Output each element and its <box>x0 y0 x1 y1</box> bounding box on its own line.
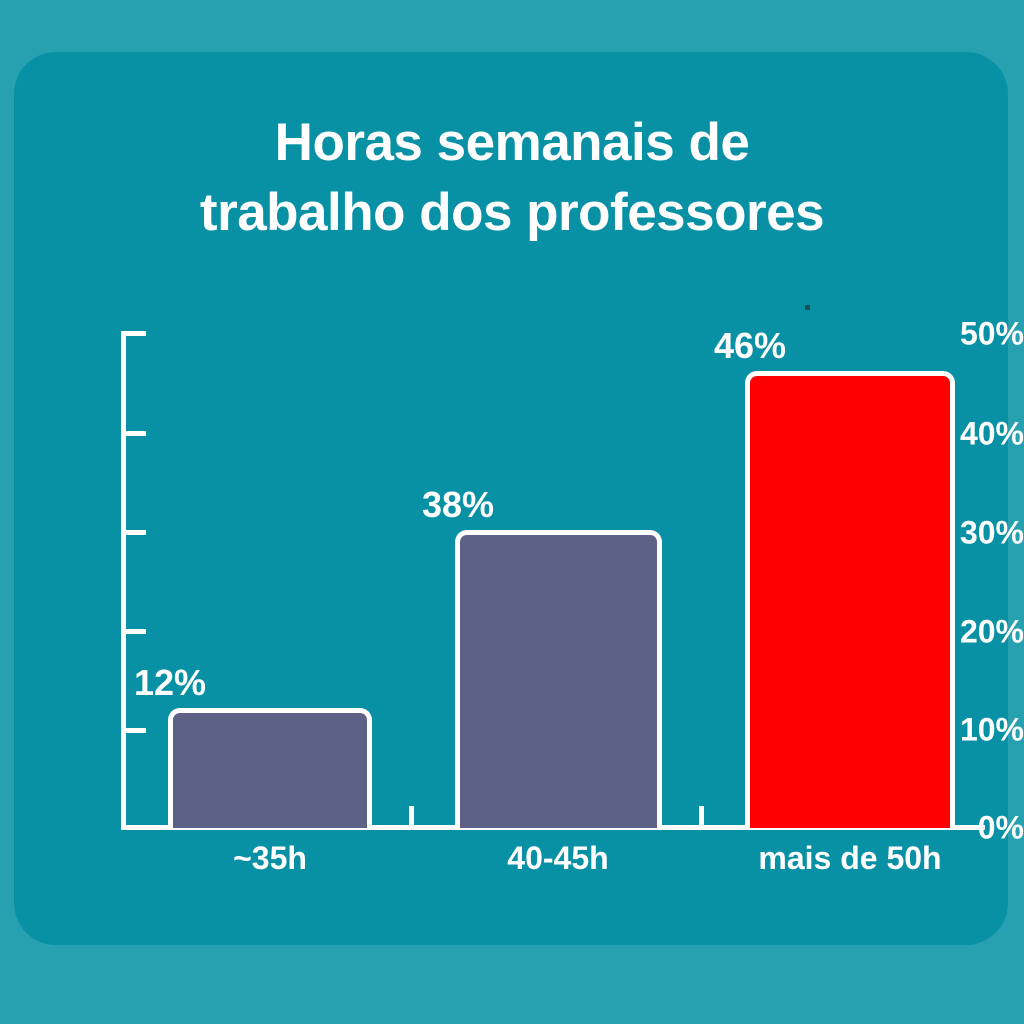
x-label-40-45h: 40-45h <box>507 840 608 877</box>
x-tick-separator-1 <box>409 806 414 828</box>
x-label-mais-de-50h: mais de 50h <box>758 840 941 877</box>
y-tick-label-50: 50% <box>924 316 1024 353</box>
bar-value-40-45h: 38% <box>358 484 558 526</box>
y-tick-40 <box>124 431 146 436</box>
bar-mais-de-50h[interactable] <box>745 371 955 828</box>
y-tick-10 <box>124 728 146 733</box>
bar-value-35h: 12% <box>70 662 270 704</box>
bar-40-45h[interactable] <box>455 530 662 828</box>
y-tick-50 <box>124 331 146 336</box>
bar-value-mais-de-50h: 46% <box>650 325 850 367</box>
y-tick-30 <box>124 530 146 535</box>
chart-canvas: Horas semanais de trabalho dos professor… <box>0 0 1024 1024</box>
bar-35h[interactable] <box>168 708 372 828</box>
y-axis-line <box>121 331 126 830</box>
x-tick-separator-2 <box>699 806 704 828</box>
y-tick-20 <box>124 629 146 634</box>
x-label-35h: ~35h <box>233 840 307 877</box>
image-speck <box>805 305 810 310</box>
plot-area: 50% 40% 30% 20% 10% 0% 12% 38% 46% ~35h … <box>0 0 1024 1024</box>
